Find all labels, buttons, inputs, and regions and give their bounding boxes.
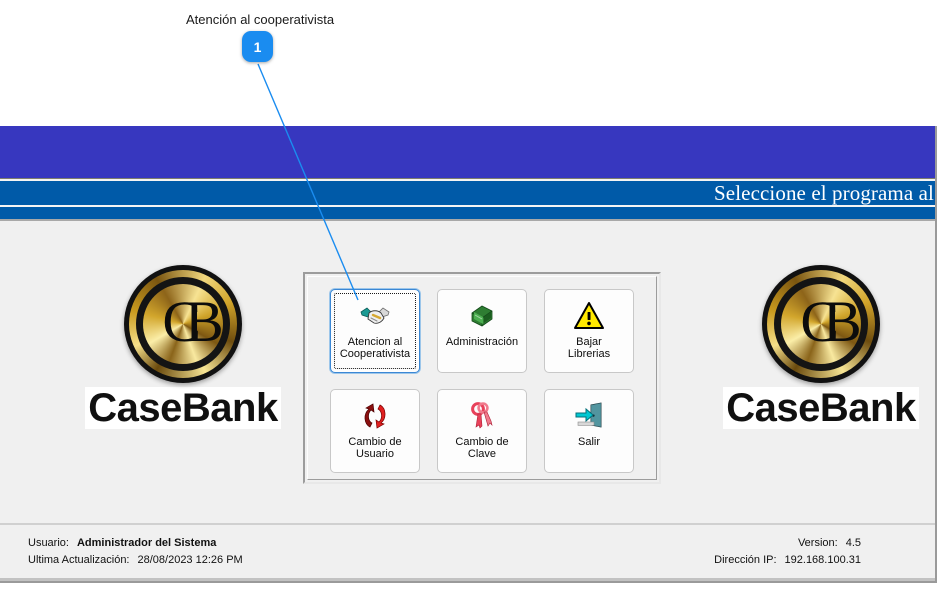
program-menu-grid: Atencion al CooperativistaAdministración… <box>320 289 644 473</box>
menu-button-label: Atencion al Cooperativista <box>338 336 412 360</box>
status-actualizacion-row: Ultima Actualización: 28/08/2023 12:26 P… <box>28 552 243 569</box>
casebank-coin-icon: CB <box>762 265 880 383</box>
coin-face: CB <box>143 284 223 364</box>
ultima-actualizacion-value: 28/08/2023 12:26 PM <box>138 552 243 569</box>
header-top-band <box>0 126 935 179</box>
menu-button-cambio-de-usuario[interactable]: Cambio de Usuario <box>330 389 420 473</box>
swap-arrows-icon <box>358 399 392 433</box>
ultima-actualizacion-label: Ultima Actualización: <box>28 552 130 569</box>
version-value: 4.5 <box>846 535 861 552</box>
books-icon <box>465 299 499 333</box>
logo-left: CB CaseBank <box>78 265 288 429</box>
window-bottom-edge <box>0 578 937 581</box>
annotation-badge-1: 1 <box>242 31 273 62</box>
header-title-text: Seleccione el programa al <box>714 181 935 206</box>
menu-button-label: Bajar Librerias <box>566 336 612 360</box>
coin-monogram: CB <box>158 293 207 351</box>
menu-button-atencion-al-cooperativista[interactable]: Atencion al Cooperativista <box>330 289 420 373</box>
logo-right: CB CaseBank <box>716 265 926 429</box>
status-usuario-row: Usuario: Administrador del Sistema <box>28 535 243 552</box>
program-menu-panel-inner: Atencion al CooperativistaAdministración… <box>307 276 657 480</box>
direccion-ip-value: 192.168.100.31 <box>785 552 861 569</box>
menu-button-label: Salir <box>576 436 602 448</box>
casebank-coin-icon: CB <box>124 265 242 383</box>
handshake-icon <box>358 299 392 333</box>
coin-monogram: CB <box>796 293 845 351</box>
status-bar-left: Usuario: Administrador del Sistema Ultim… <box>28 535 243 569</box>
program-menu-panel: Atencion al CooperativistaAdministración… <box>303 272 661 484</box>
casebank-wordmark: CaseBank <box>85 387 280 429</box>
coin-face: CB <box>781 284 861 364</box>
menu-button-label: Administración <box>444 336 520 348</box>
menu-button-bajar-librerias[interactable]: Bajar Librerias <box>544 289 634 373</box>
status-bar-right: Version: 4.5 Dirección IP: 192.168.100.3… <box>714 535 861 569</box>
menu-button-administracion[interactable]: Administración <box>437 289 527 373</box>
menu-button-label: Cambio de Clave <box>453 436 510 460</box>
casebank-wordmark: CaseBank <box>723 387 918 429</box>
version-label: Version: <box>798 535 838 552</box>
annotation-label: Atención al cooperativista <box>186 12 334 27</box>
menu-button-salir[interactable]: Salir <box>544 389 634 473</box>
direccion-ip-label: Dirección IP: <box>714 552 776 569</box>
status-ip-row: Dirección IP: 192.168.100.31 <box>714 552 861 569</box>
menu-button-cambio-de-clave[interactable]: Cambio de Clave <box>437 389 527 473</box>
exit-door-icon <box>572 399 606 433</box>
usuario-value: Administrador del Sistema <box>77 535 216 552</box>
keys-icon <box>465 399 499 433</box>
header-title-band: Seleccione el programa al <box>0 179 935 207</box>
status-version-row: Version: 4.5 <box>714 535 861 552</box>
header-lower-band <box>0 207 935 221</box>
warning-triangle-icon <box>572 299 606 333</box>
usuario-label: Usuario: <box>28 535 69 552</box>
status-bar: Usuario: Administrador del Sistema Ultim… <box>0 523 935 581</box>
menu-button-label: Cambio de Usuario <box>346 436 403 460</box>
